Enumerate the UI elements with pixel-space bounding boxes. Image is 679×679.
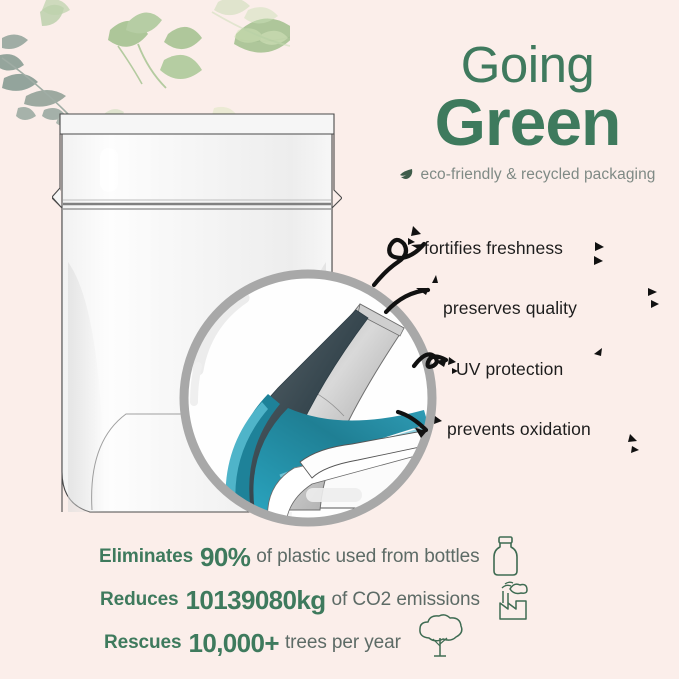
- stat-lead: Reduces: [100, 589, 179, 611]
- infographic-canvas: Going Green eco-friendly & recycled pack…: [0, 0, 679, 679]
- stat-value: 10139080kg: [186, 585, 326, 616]
- feature-label-fortifies-freshness: fortifies freshness: [424, 238, 563, 259]
- bottle-icon: [490, 535, 520, 579]
- stat-lead: Eliminates: [99, 546, 193, 568]
- stat-value: 90%: [200, 542, 250, 573]
- stat-tail: of plastic used from bottles: [256, 546, 479, 568]
- headline-line-going: Going: [390, 40, 665, 89]
- leaf-icon: [399, 168, 414, 182]
- headline-block: Going Green eco-friendly & recycled pack…: [390, 40, 665, 184]
- stats-block: Eliminates 90% of plastic used from bott…: [99, 537, 619, 663]
- stat-row: Rescues 10,000+ trees per year: [99, 623, 619, 663]
- factory-emissions-icon: [490, 579, 530, 621]
- stat-row: Reduces 10139080kg of CO2 emissions: [99, 580, 619, 620]
- stat-lead: Rescues: [104, 632, 181, 654]
- feature-label-uv-protection: UV protection: [456, 359, 563, 380]
- headline-line-green: Green: [390, 89, 665, 156]
- feature-label-prevents-oxidation: prevents oxidation: [447, 419, 591, 440]
- stat-value: 10,000+: [188, 628, 279, 659]
- magnifier-circle: [172, 262, 444, 534]
- feature-label-preserves-quality: preserves quality: [443, 298, 577, 319]
- headline-subtitle: eco-friendly & recycled packaging: [420, 166, 655, 184]
- tree-icon: [411, 626, 469, 660]
- stat-tail: trees per year: [285, 632, 401, 654]
- stat-row: Eliminates 90% of plastic used from bott…: [99, 537, 619, 577]
- stat-tail: of CO2 emissions: [332, 589, 480, 611]
